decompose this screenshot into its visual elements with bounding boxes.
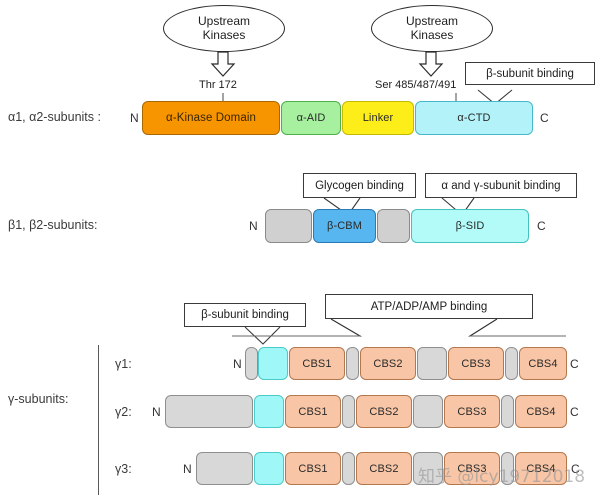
gamma2-segment-cbs4[interactable]: CBS4 <box>515 395 567 428</box>
callout-atp-adp-amp-binding: ATP/ADP/AMP binding <box>325 294 533 319</box>
gamma3-segment-1[interactable] <box>196 452 253 485</box>
gamma2-segment-cbs1[interactable]: CBS1 <box>285 395 341 428</box>
beta-segment-cbm[interactable]: β-CBM <box>313 209 376 243</box>
watermark: 知乎 @lcy19712018 <box>418 462 585 487</box>
gamma1-label: γ1: <box>115 357 132 371</box>
beta-n-terminus: N <box>249 219 258 233</box>
atp-bracket-right <box>470 319 530 336</box>
callout-alpha-gamma-subunit-binding: α and γ-subunit binding <box>425 173 577 198</box>
row-label-beta: β1, β2-subunits: <box>8 218 97 232</box>
gamma2-label: γ2: <box>115 405 132 419</box>
diagram-canvas: Upstream Kinases Upstream Kinases Thr 17… <box>0 0 600 501</box>
annotation-thr172: Thr 172 <box>199 79 237 91</box>
gamma2-c-terminus: C <box>570 405 579 419</box>
beta-segment-sid[interactable]: β-SID <box>411 209 529 243</box>
gamma2-segment-1[interactable] <box>165 395 253 428</box>
ellipse-left-line2: Kinases <box>198 29 250 43</box>
arrow-down-left <box>212 52 234 76</box>
callout-beta-subunit-binding-gamma: β-subunit binding <box>184 303 306 327</box>
gamma3-segment-2[interactable] <box>254 452 284 485</box>
gamma3-label: γ3: <box>115 462 132 476</box>
gamma2-segment-8[interactable] <box>501 395 514 428</box>
gamma2-segment-2[interactable] <box>254 395 284 428</box>
ellipse-upstream-kinases-right: Upstream Kinases <box>371 5 493 52</box>
gamma1-segment-1[interactable] <box>245 347 258 380</box>
gamma2-segment-cbs2[interactable]: CBS2 <box>356 395 412 428</box>
gamma3-n-terminus: N <box>183 462 192 476</box>
alpha-segment-kinase-domain[interactable]: α-Kinase Domain <box>142 101 280 135</box>
gamma3-segment-cbs2[interactable]: CBS2 <box>356 452 412 485</box>
gamma1-segment-cbs4[interactable]: CBS4 <box>519 347 567 380</box>
callout-tail-beta-binding-gamma <box>245 327 280 344</box>
ellipse-right-line2: Kinases <box>406 29 458 43</box>
alpha-segment-linker[interactable]: Linker <box>342 101 414 135</box>
gamma2-n-terminus: N <box>152 405 161 419</box>
atp-bracket-left <box>300 319 360 336</box>
alpha-n-terminus: N <box>130 111 139 125</box>
gamma2-segment-4[interactable] <box>342 395 355 428</box>
gamma1-n-terminus: N <box>233 357 242 371</box>
alpha-segment-aid[interactable]: α-AID <box>281 101 341 135</box>
arrow-down-right <box>420 52 442 76</box>
ellipse-right-line1: Upstream <box>406 15 458 29</box>
row-label-alpha: α1, α2-subunits : <box>8 110 101 124</box>
beta-segment-nterm-grey[interactable] <box>265 209 312 243</box>
gamma1-segment-6[interactable] <box>417 347 447 380</box>
annotation-ser485: Ser 485/487/491 <box>375 79 456 91</box>
gamma3-segment-cbs1[interactable]: CBS1 <box>285 452 341 485</box>
row-label-gamma-group: γ-subunits: <box>8 392 68 406</box>
alpha-segment-ctd[interactable]: α-CTD <box>415 101 533 135</box>
ellipse-upstream-kinases-left: Upstream Kinases <box>163 5 285 52</box>
gamma3-segment-4[interactable] <box>342 452 355 485</box>
gamma1-segment-4[interactable] <box>346 347 359 380</box>
gamma1-c-terminus: C <box>570 357 579 371</box>
gamma2-segment-cbs3[interactable]: CBS3 <box>444 395 500 428</box>
gamma1-segment-cbs2[interactable]: CBS2 <box>360 347 416 380</box>
gamma1-segment-cbs1[interactable]: CBS1 <box>289 347 345 380</box>
callout-glycogen-binding: Glycogen binding <box>303 173 416 198</box>
gamma1-segment-cbs3[interactable]: CBS3 <box>448 347 504 380</box>
beta-c-terminus: C <box>537 219 546 233</box>
gamma1-segment-2[interactable] <box>258 347 288 380</box>
gamma-group-divider <box>98 345 99 495</box>
gamma2-segment-6[interactable] <box>413 395 443 428</box>
callout-beta-subunit-binding-alpha: β-subunit binding <box>465 62 595 85</box>
gamma1-segment-8[interactable] <box>505 347 518 380</box>
beta-segment-mid-grey[interactable] <box>377 209 410 243</box>
ellipse-left-line1: Upstream <box>198 15 250 29</box>
alpha-c-terminus: C <box>540 111 549 125</box>
